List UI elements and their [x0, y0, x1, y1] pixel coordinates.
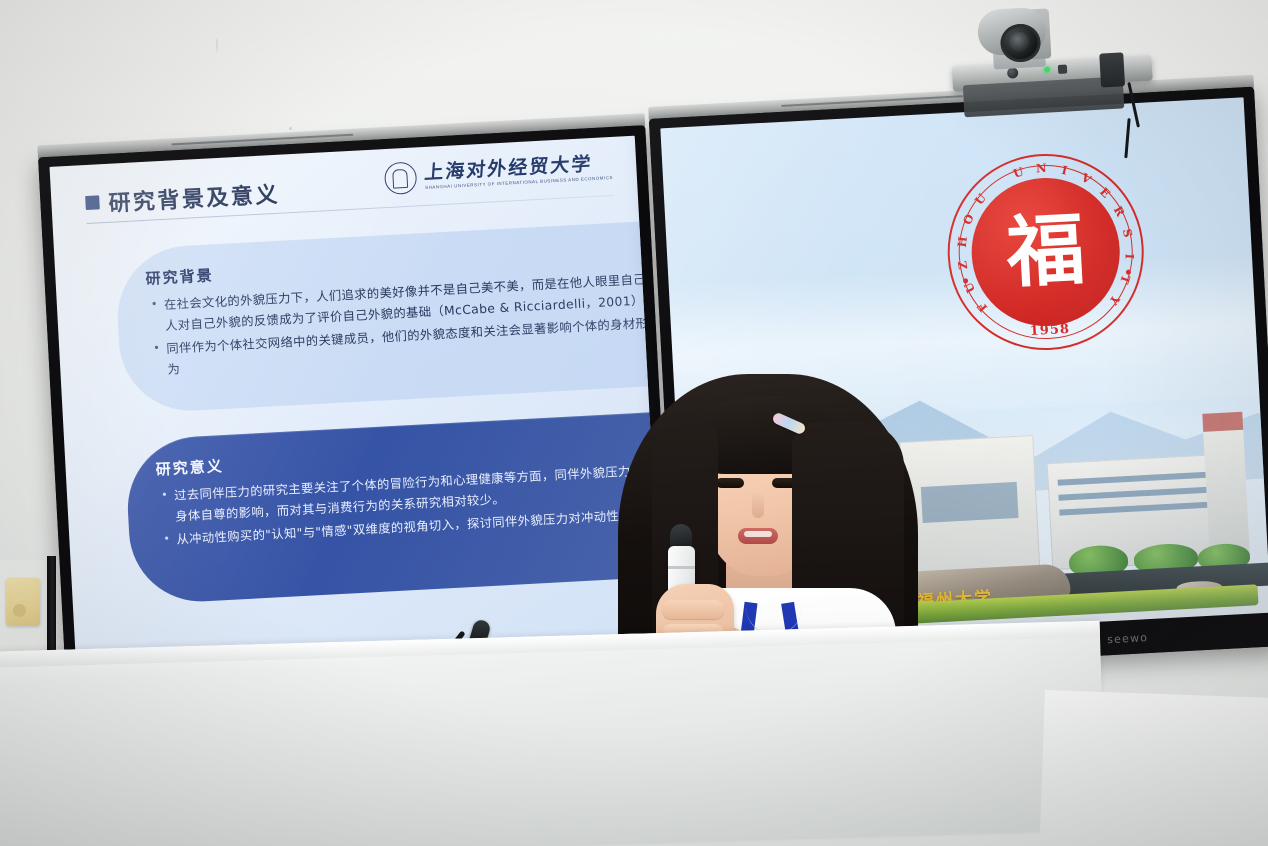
wall-speck	[216, 38, 218, 52]
seal-arc-letter: I	[1060, 163, 1068, 178]
seal-arc-letter: I	[1122, 254, 1136, 260]
microphone-band	[668, 566, 695, 569]
ptz-conference-camera	[948, 0, 1165, 130]
seal-arc-letter: S	[1120, 228, 1136, 239]
slide-screen[interactable]: 上海对外经贸大学 SHANGHAI UNIVERSITY OF INTERNAT…	[50, 136, 662, 664]
seewo-brand-label: seewo	[1107, 631, 1149, 646]
seal-character: 福	[968, 175, 1124, 331]
nose	[752, 492, 764, 518]
research-background-card: 研究背景 在社会文化的外貌压力下，人们追求的美好像并不是自己美不美，而是在他人眼…	[114, 215, 661, 415]
fuzhou-university-seal-icon: FUZHOUUNIVERSITY 福 1958	[943, 149, 1149, 355]
presentation-room-photo: 上海对外经贸大学 SHANGHAI UNIVERSITY OF INTERNAT…	[0, 0, 1268, 846]
ppt-slide: 上海对外经贸大学 SHANGHAI UNIVERSITY OF INTERNAT…	[50, 136, 662, 664]
seal-arc-letter: H	[955, 236, 970, 248]
university-logo: 上海对外经贸大学 SHANGHAI UNIVERSITY OF INTERNAT…	[384, 151, 613, 195]
seal-arc-letter: N	[1036, 161, 1047, 176]
seal-year: 1958	[1029, 322, 1070, 339]
mouth	[738, 528, 778, 544]
title-bullet-square-icon	[85, 195, 100, 210]
podium-side-panel	[1039, 690, 1268, 846]
camera-head	[977, 7, 1047, 57]
seal-arc-letter: Z	[955, 260, 970, 271]
interactive-flat-panel-left[interactable]: 上海对外经贸大学 SHANGHAI UNIVERSITY OF INTERNAT…	[38, 125, 673, 677]
ir-sensor-icon	[1058, 64, 1067, 73]
slide-title: 研究背景及意义	[85, 177, 281, 219]
research-significance-card: 研究意义 过去同伴压力的研究主要关注了个体的冒险行为和心理健康等方面，同伴外貌压…	[124, 405, 661, 605]
eye	[716, 478, 744, 488]
camera-mount-end-cap	[1099, 52, 1125, 87]
slide-title-text: 研究背景及意义	[108, 177, 281, 218]
university-seal-icon	[384, 161, 418, 195]
seal-disc: 福	[968, 175, 1124, 331]
wall-outlet-box	[6, 578, 40, 626]
podium-desk	[0, 621, 1105, 846]
